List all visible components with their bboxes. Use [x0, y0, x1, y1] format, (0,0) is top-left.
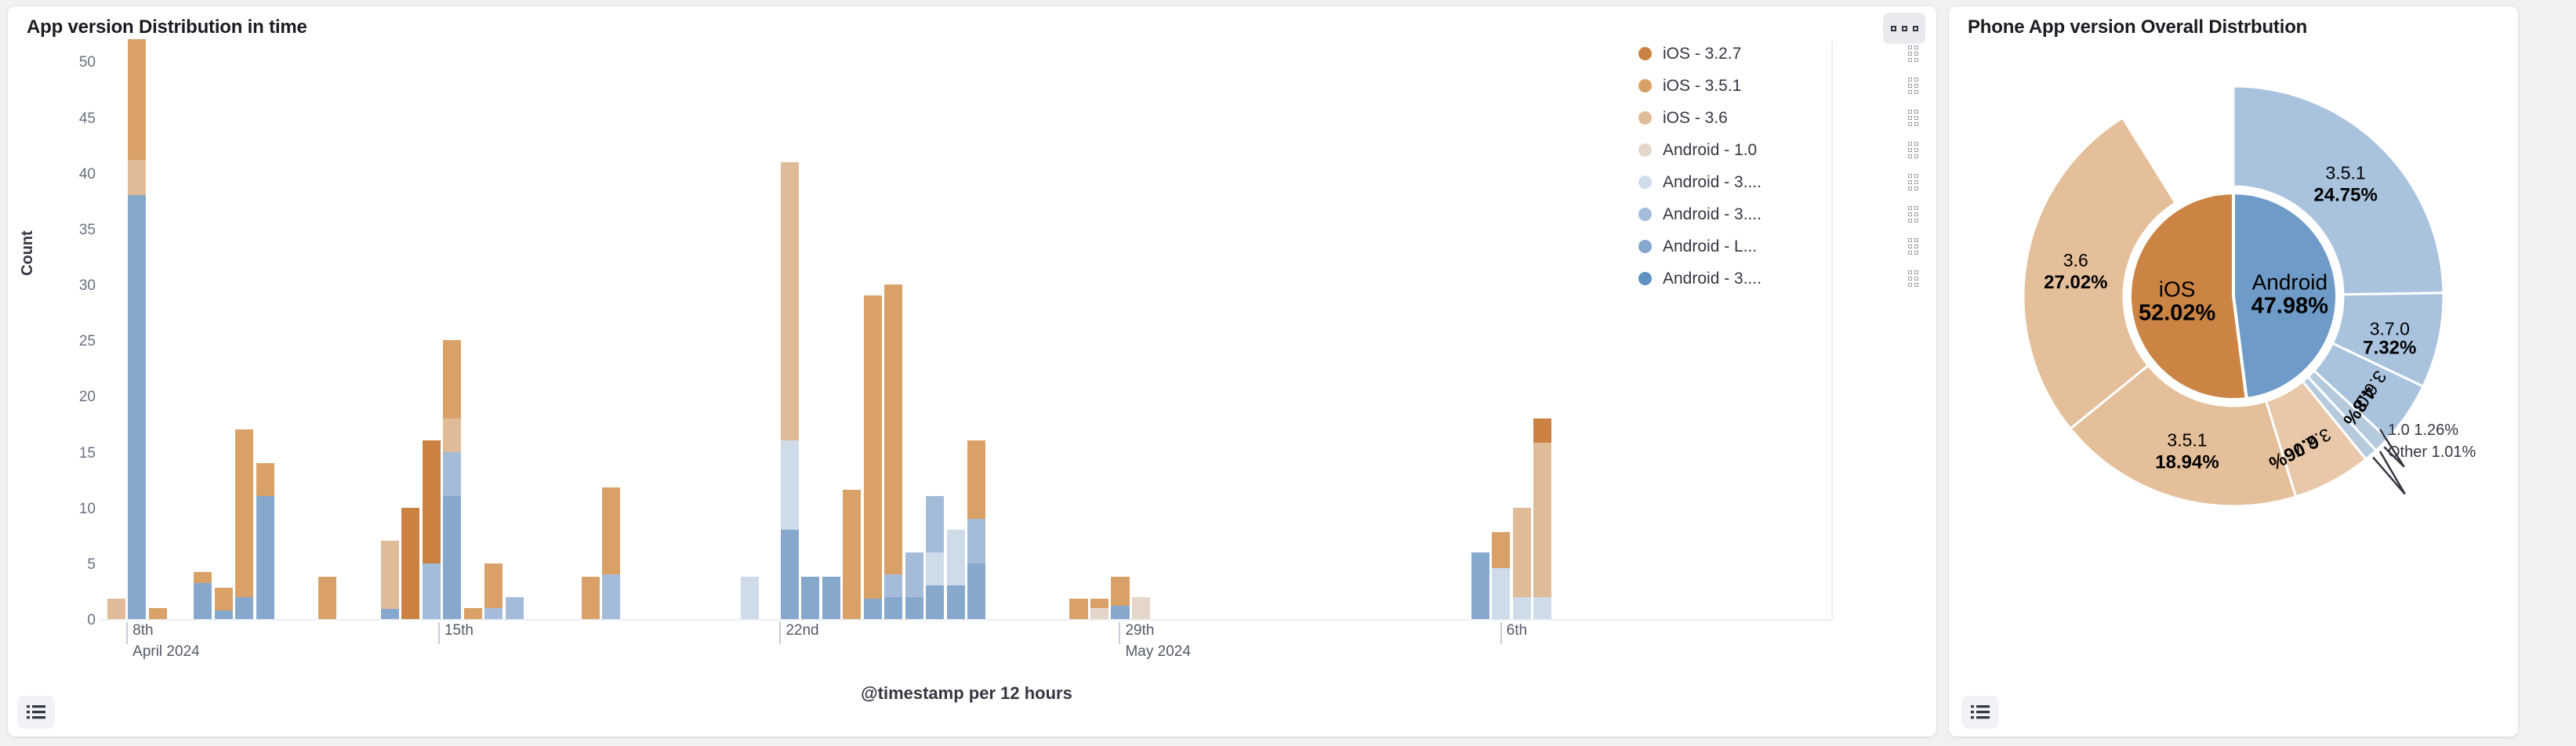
y-axis-tick-label: 35 [49, 222, 96, 239]
bar-stack[interactable] [1513, 508, 1531, 619]
bar-segment[interactable] [884, 597, 902, 619]
bar-segment[interactable] [1492, 568, 1510, 619]
y-axis-tick-label: 25 [49, 333, 96, 350]
bar-stack[interactable] [423, 440, 441, 619]
bar-segment[interactable] [602, 487, 620, 574]
bar-stack[interactable] [194, 572, 212, 619]
drag-handle-icon[interactable] [1908, 270, 1921, 287]
legend-item-label: Android - 1.0 [1663, 141, 1908, 160]
legend-item-label: iOS - 3.6 [1663, 109, 1908, 128]
legend-color-swatch [1638, 111, 1652, 125]
bar-segment[interactable] [1513, 508, 1531, 597]
legend-item[interactable]: Android - 3.... [1638, 198, 1921, 230]
legend-item[interactable]: iOS - 3.6 [1638, 102, 1921, 134]
bar-segment[interactable] [128, 160, 146, 196]
drag-handle-icon[interactable] [1908, 45, 1921, 62]
bar-segment[interactable] [1513, 597, 1531, 619]
bar-segment[interactable] [582, 577, 600, 619]
bar-segment[interactable] [423, 563, 441, 619]
bar-stack[interactable] [401, 508, 419, 619]
x-axis-title: @timestamp per 12 hours [100, 683, 1833, 704]
bar-stack[interactable] [947, 530, 965, 619]
bar-stack[interactable] [1492, 532, 1510, 619]
bar-segment[interactable] [1090, 608, 1108, 619]
bar-segment[interactable] [967, 563, 985, 619]
bar-stack[interactable] [1533, 418, 1551, 619]
y-axis-tick-label: 50 [49, 54, 96, 71]
bar-stack[interactable] [107, 599, 125, 619]
bar-segment[interactable] [1533, 418, 1551, 443]
bar-stack[interactable] [1090, 599, 1108, 619]
x-axis-tick-label: 29thMay 2024 [1119, 622, 1190, 644]
legend-item[interactable]: iOS - 3.5.1 [1638, 70, 1921, 102]
bar-stack[interactable] [967, 440, 985, 619]
bar-segment[interactable] [1069, 599, 1087, 619]
drag-handle-icon[interactable] [1908, 110, 1921, 126]
svg-text:3.7.0: 3.7.0 [2370, 318, 2410, 339]
bar-segment[interactable] [864, 599, 882, 619]
bar-stack[interactable] [1069, 599, 1087, 619]
panel-app-version-overall: Phone App version Overall Distrbution An… [1949, 6, 2518, 737]
three-dots-horizontal-icon [1891, 26, 1896, 31]
bar-segment[interactable] [822, 577, 840, 619]
bar-segment[interactable] [1090, 599, 1108, 607]
bar-segment[interactable] [1111, 606, 1129, 619]
page-title: Phone App version Overall Distrbution [1949, 6, 2518, 38]
y-axis-ticks: 50454035302520151050 [41, 41, 96, 621]
y-axis-tick-label: 45 [49, 110, 96, 128]
legend-item-label: Android - 3.... [1663, 270, 1908, 288]
bar-stack[interactable] [905, 552, 923, 619]
bar-segment[interactable] [107, 599, 125, 619]
y-axis-tick-label: 30 [49, 277, 96, 295]
bar-stack[interactable] [128, 39, 146, 619]
bar-segment[interactable] [926, 552, 944, 586]
legend-list-icon [1971, 704, 1990, 720]
y-axis-tick-label: 5 [49, 556, 96, 574]
legend-item[interactable]: iOS - 3.2.7 [1638, 38, 1921, 70]
legend-toggle-button[interactable] [1961, 696, 1999, 729]
bar-segment[interactable] [843, 490, 861, 619]
legend-color-swatch [1638, 47, 1652, 60]
x-axis-tick-label: 15th [438, 622, 473, 644]
bar-segment[interactable] [1492, 532, 1510, 568]
bar-segment[interactable] [318, 577, 336, 619]
bar-segment[interactable] [401, 508, 419, 619]
bar-stack[interactable] [464, 608, 482, 619]
bar-segment[interactable] [443, 418, 461, 452]
x-axis-tick-label: 6th [1500, 622, 1527, 644]
bar-segment[interactable] [1111, 577, 1129, 606]
legend-item[interactable]: Android - L... [1638, 230, 1921, 263]
bar-stack[interactable] [843, 490, 861, 619]
legend-item[interactable]: Android - 3.... [1638, 166, 1921, 198]
legend-color-swatch [1638, 240, 1652, 253]
bar-stack[interactable] [256, 463, 274, 619]
bar-segment[interactable] [1533, 597, 1551, 619]
bar-segment[interactable] [443, 496, 461, 619]
bar-segment[interactable] [215, 610, 233, 619]
legend-color-swatch [1638, 272, 1652, 285]
bar-stack[interactable] [864, 295, 882, 619]
bar-segment[interactable] [967, 519, 985, 563]
bar-stack[interactable] [484, 563, 503, 619]
legend-toggle-button[interactable] [17, 696, 55, 729]
bar-segment[interactable] [781, 530, 799, 619]
legend-color-swatch [1638, 143, 1652, 157]
bar-segment[interactable] [381, 541, 399, 609]
y-axis-tick-label: 0 [49, 612, 96, 629]
svg-text:iOS: iOS [2159, 277, 2196, 302]
sunburst-chart[interactable]: Android47.98%iOS52.02%3.5.124.75%3.7.0 7… [1949, 38, 2518, 688]
dashboard-root: App version Distribution in time Count 5… [0, 0, 2576, 746]
bar-stack[interactable] [741, 577, 759, 619]
svg-text:24.75%: 24.75% [2313, 185, 2377, 206]
bar-segment[interactable] [926, 585, 944, 619]
bar-stack[interactable] [1471, 552, 1489, 619]
legend-item[interactable]: Android - 1.0 [1638, 134, 1921, 166]
bar-segment[interactable] [967, 440, 985, 519]
svg-text:1.0 1.26%: 1.0 1.26% [2388, 422, 2458, 439]
bar-segment[interactable] [464, 608, 482, 619]
svg-text:18.94%: 18.94% [2155, 451, 2219, 473]
svg-text:Other 1.01%: Other 1.01% [2388, 444, 2476, 461]
bar-segment[interactable] [484, 563, 503, 608]
bar-segment[interactable] [1533, 443, 1551, 596]
bars-plot-area[interactable] [100, 41, 1833, 621]
legend-item-label: iOS - 3.5.1 [1663, 77, 1908, 96]
bar-segment[interactable] [235, 429, 253, 596]
sunburst-callout: Other 1.01% [2373, 444, 2476, 494]
bar-stack[interactable] [215, 588, 233, 619]
drag-handle-icon[interactable] [1908, 78, 1921, 94]
page-title: App version Distribution in time [8, 6, 1936, 38]
bar-stack[interactable] [149, 608, 167, 619]
bar-stack[interactable] [884, 284, 902, 619]
bar-segment[interactable] [194, 572, 212, 583]
x-axis-ticks: 8thApril 202415th22nd29thMay 20246th [100, 622, 1833, 677]
bar-segment[interactable] [741, 577, 759, 619]
bar-stack[interactable] [602, 487, 620, 619]
bar-segment[interactable] [884, 574, 902, 596]
legend-color-swatch [1638, 79, 1652, 92]
svg-text:3.6: 3.6 [2063, 250, 2088, 270]
y-axis-tick-label: 20 [49, 389, 96, 406]
legend-color-swatch [1638, 208, 1652, 221]
chart-legend[interactable]: iOS - 3.2.7iOS - 3.5.1iOS - 3.6Android -… [1638, 38, 1921, 295]
bar-segment[interactable] [256, 463, 274, 497]
bar-stack[interactable] [781, 162, 799, 619]
x-axis-tick-label: 8thApril 2024 [126, 622, 200, 644]
drag-handle-icon[interactable] [1908, 174, 1921, 190]
x-axis-tick-label: 22nd [779, 622, 818, 644]
bar-stack[interactable] [1111, 577, 1129, 619]
bar-segment[interactable] [256, 496, 274, 619]
bar-stack[interactable] [801, 577, 819, 619]
bar-segment[interactable] [947, 530, 965, 585]
y-axis-title: Count [19, 230, 37, 276]
bar-stack[interactable] [1132, 597, 1150, 619]
bar-segment[interactable] [443, 340, 461, 418]
bar-segment[interactable] [423, 440, 441, 563]
drag-handle-icon[interactable] [1908, 206, 1921, 223]
bar-stack[interactable] [235, 429, 253, 619]
bar-segment[interactable] [781, 162, 799, 441]
legend-color-swatch [1638, 176, 1652, 189]
bar-segment[interactable] [235, 597, 253, 619]
bar-segment[interactable] [947, 585, 965, 619]
drag-handle-icon[interactable] [1908, 238, 1921, 255]
bar-segment[interactable] [801, 577, 819, 619]
bar-stack[interactable] [822, 577, 840, 619]
bar-segment[interactable] [905, 552, 923, 597]
bar-segment[interactable] [1471, 552, 1489, 619]
bar-segment[interactable] [443, 452, 461, 497]
three-dots-horizontal-icon [1902, 26, 1907, 31]
bar-segment[interactable] [884, 284, 902, 574]
svg-text:3.5.1: 3.5.1 [2326, 163, 2366, 183]
bar-stack[interactable] [506, 597, 524, 619]
bar-stack[interactable] [926, 496, 944, 619]
bar-segment[interactable] [905, 597, 923, 619]
bar-stack[interactable] [318, 577, 336, 619]
bar-segment[interactable] [128, 39, 146, 160]
sunburst-outer-slice-label: 3.7.0 7.32% [2363, 318, 2416, 358]
sunburst-chart-body: Android47.98%iOS52.02%3.5.124.75%3.7.0 7… [1949, 38, 2518, 727]
svg-text:47.98%: 47.98% [2251, 293, 2329, 318]
bar-segment[interactable] [1132, 597, 1150, 619]
bar-segment[interactable] [781, 440, 799, 530]
legend-item-label: Android - 3.... [1663, 173, 1908, 192]
bar-stack[interactable] [443, 340, 461, 619]
legend-list-icon [27, 704, 45, 720]
drag-handle-icon[interactable] [1908, 142, 1921, 158]
bar-segment[interactable] [484, 608, 503, 619]
svg-text:3.5.1: 3.5.1 [2167, 429, 2207, 450]
bar-segment[interactable] [149, 608, 167, 619]
y-axis-tick-label: 40 [49, 166, 96, 183]
bar-segment[interactable] [926, 496, 944, 552]
y-axis-tick-label: 10 [49, 501, 96, 518]
bar-segment[interactable] [602, 574, 620, 619]
panel-app-version-over-time: App version Distribution in time Count 5… [8, 6, 1936, 737]
y-axis-tick-label: 15 [49, 445, 96, 462]
svg-text:Android: Android [2252, 270, 2328, 294]
legend-item[interactable]: Android - 3.... [1638, 263, 1921, 295]
bar-segment[interactable] [381, 609, 399, 619]
legend-item-label: Android - L... [1663, 237, 1908, 256]
three-dots-horizontal-icon [1913, 26, 1918, 31]
bar-segment[interactable] [194, 583, 212, 619]
bar-segment[interactable] [506, 597, 524, 619]
legend-item-label: Android - 3.... [1663, 205, 1908, 224]
bar-segment[interactable] [864, 295, 882, 599]
svg-text:52.02%: 52.02% [2139, 301, 2216, 326]
bar-segment[interactable] [128, 195, 146, 619]
svg-text:27.02%: 27.02% [2044, 272, 2107, 293]
svg-text:7.32%: 7.32% [2363, 337, 2416, 358]
bar-stack[interactable] [381, 541, 399, 619]
bar-stack[interactable] [582, 577, 600, 619]
bar-segment[interactable] [215, 588, 233, 610]
sunburst-inner-slice-label: Android47.98% [2251, 270, 2329, 318]
legend-item-label: iOS - 3.2.7 [1663, 45, 1908, 63]
